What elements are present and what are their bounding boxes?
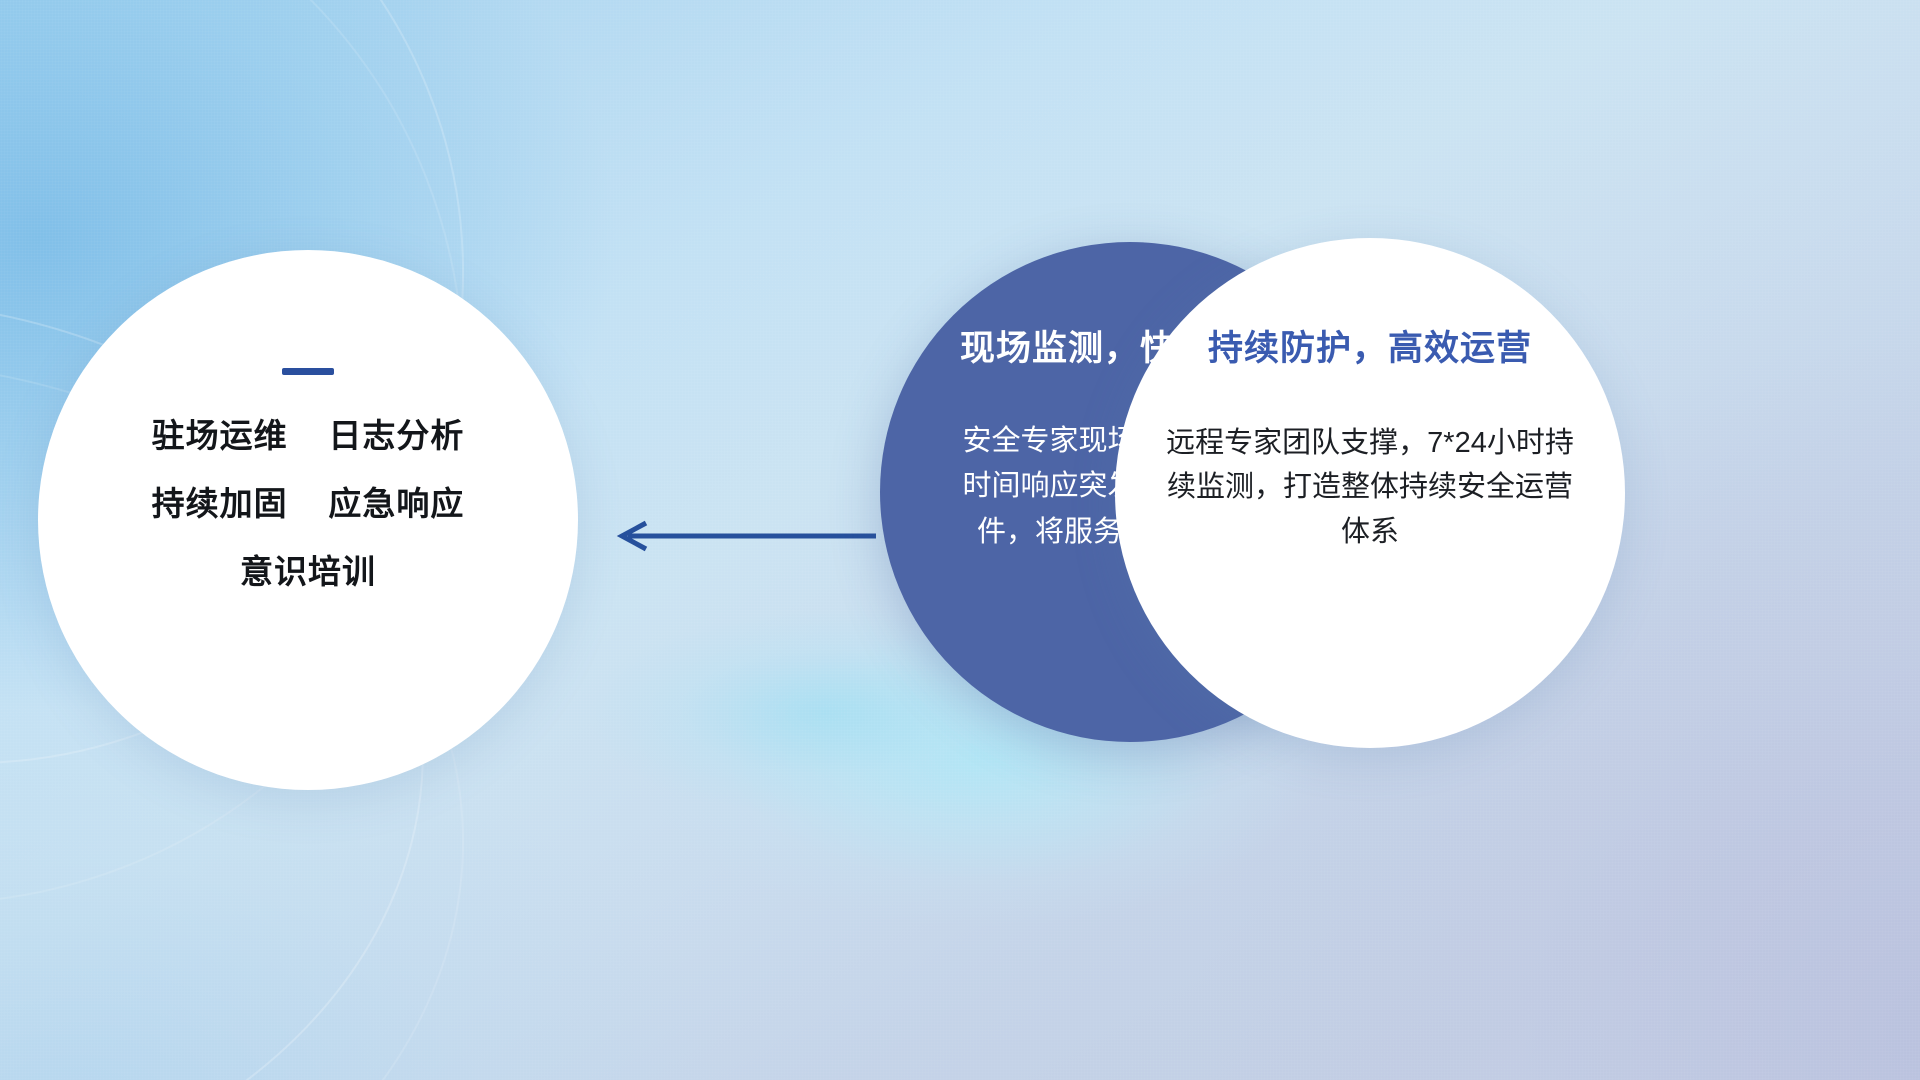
accent-dash-mark xyxy=(282,368,334,375)
capability-circle-left-content: 驻场运维 日志分析 持续加固 应急响应 意识培训 xyxy=(38,368,578,588)
keyword-line: 意识培训 xyxy=(38,555,578,588)
keyword-line: 驻场运维 日志分析 xyxy=(38,419,578,452)
keyword-line: 持续加固 应急响应 xyxy=(38,487,578,520)
connector-arrow-left-icon xyxy=(600,520,880,552)
slide-canvas: 驻场运维 日志分析 持续加固 应急响应 意识培训 现场监测，快速响应 安全专家现… xyxy=(0,0,1920,1080)
right-circle-title: 持续防护，高效运营 xyxy=(1110,330,1630,369)
capability-circle-right-content: 持续防护，高效运营 远程专家团队支撑，7*24小时持续监测，打造整体持续安全运营… xyxy=(1110,330,1630,555)
capability-circle-left[interactable]: 驻场运维 日志分析 持续加固 应急响应 意识培训 xyxy=(38,250,578,790)
right-circle-body: 远程专家团队支撑，7*24小时持续监测，打造整体持续安全运营体系 xyxy=(1160,421,1580,556)
